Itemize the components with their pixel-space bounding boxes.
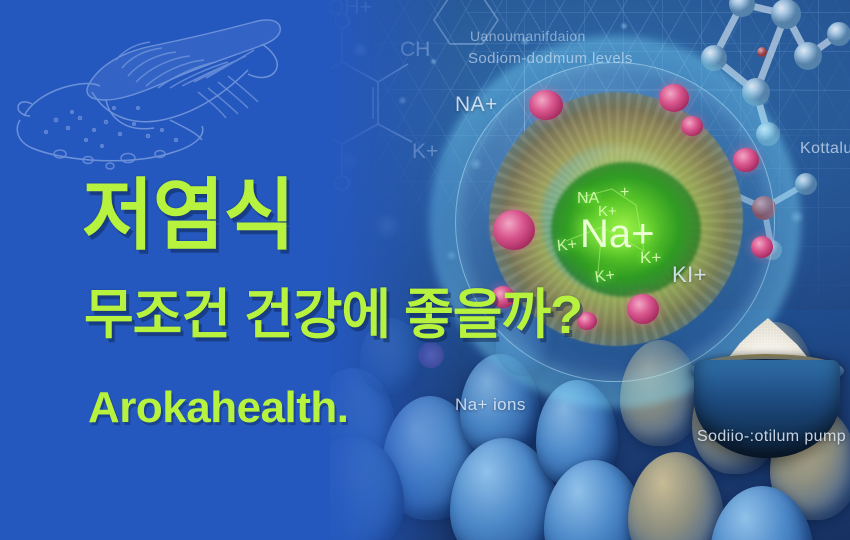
blue-panel-fade <box>310 0 460 540</box>
ion-network-lines <box>540 175 700 295</box>
video-thumbnail: OH+ CH K+ <box>0 0 850 540</box>
salt-scoop-icon <box>10 8 300 176</box>
headline-subtitle: 무조건 건강에 좋을까? <box>84 288 582 342</box>
brand-wordmark: Arokahealth. <box>88 386 349 430</box>
salt-bowl-icon <box>690 330 844 462</box>
headline-title: 저염식 <box>82 176 294 254</box>
